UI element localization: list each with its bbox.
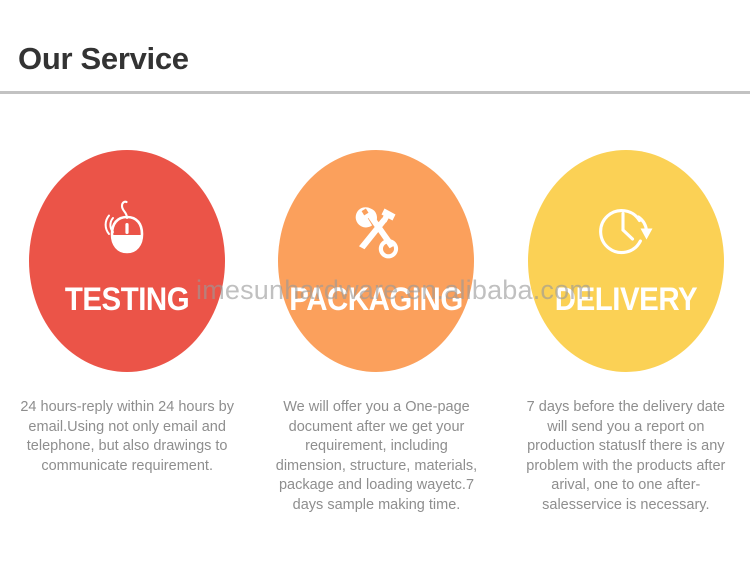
service-columns: TESTING 24 hours-reply within 24 hours b… [0, 150, 750, 570]
service-card-packaging: PACKAGING We will offer you a One-page d… [259, 150, 493, 570]
service-circle-delivery: DELIVERY [528, 150, 724, 372]
service-circle-packaging: PACKAGING [278, 150, 474, 372]
service-label-testing: TESTING [37, 280, 217, 318]
title-divider [0, 91, 750, 94]
wrench-hammer-icon [343, 198, 409, 264]
service-circle-testing: TESTING [29, 150, 225, 372]
service-label-packaging: PACKAGING [286, 280, 466, 318]
clock-arrow-icon [593, 198, 659, 264]
service-page: Our Service [0, 0, 750, 585]
service-description-packaging: We will offer you a One-page document af… [269, 398, 484, 515]
mouse-icon [94, 198, 160, 264]
service-description-testing: 24 hours-reply within 24 hours by email.… [20, 398, 235, 476]
page-title: Our Service [18, 37, 189, 81]
service-label-delivery: DELIVERY [536, 280, 716, 318]
service-description-delivery: 7 days before the delivery date will sen… [518, 398, 733, 515]
service-card-testing: TESTING 24 hours-reply within 24 hours b… [10, 150, 244, 570]
service-card-delivery: DELIVERY 7 days before the delivery date… [509, 150, 743, 570]
